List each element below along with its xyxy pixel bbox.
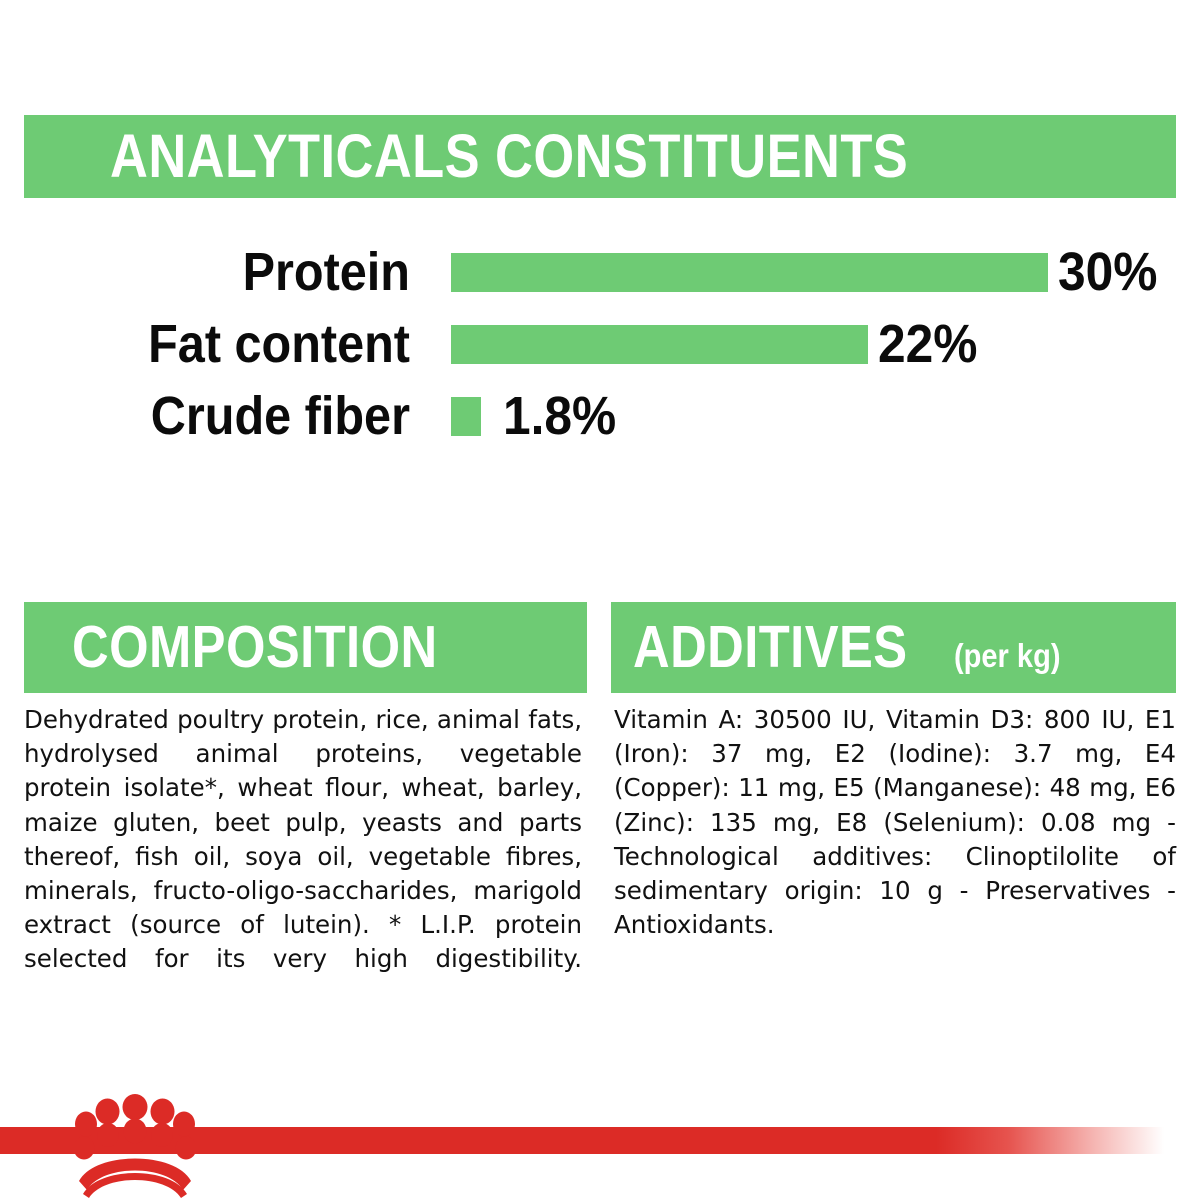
bar-zone-fat-content: 22% xyxy=(451,317,986,371)
composition-banner: COMPOSITION xyxy=(24,602,587,693)
nutrient-value-crude-fiber: 1.8% xyxy=(503,389,616,443)
nutrient-label-crude-fiber: Crude fiber xyxy=(41,389,410,443)
royal-canin-crown-logo xyxy=(75,1094,195,1198)
analyticals-constituents-banner: ANALYTICALS CONSTITUENTS xyxy=(24,115,1176,198)
bar-zone-crude-fiber: 1.8% xyxy=(451,389,626,443)
nutrient-value-fat-content: 22% xyxy=(878,317,977,371)
additives-text-block: Vitamin A: 30500 IU, Vitamin D3: 800 IU,… xyxy=(614,703,1176,977)
nutrient-bar-protein xyxy=(451,253,1048,292)
composition-title: COMPOSITION xyxy=(72,618,438,677)
bar-zone-protein: 30% xyxy=(451,245,1166,299)
chart-row-protein: Protein 30% xyxy=(0,236,1200,308)
additives-title: ADDITIVES xyxy=(633,618,908,677)
chart-row-fat-content: Fat content 22% xyxy=(0,308,1200,380)
nutrient-bar-crude-fiber xyxy=(451,397,481,436)
nutrient-label-protein: Protein xyxy=(41,245,410,299)
nutrient-label-fat-content: Fat content xyxy=(41,317,410,371)
additives-per-kg-subtitle: (per kg) xyxy=(954,639,1060,672)
composition-text-block: Dehydrated poultry protein, rice, animal… xyxy=(24,703,582,1011)
chart-row-crude-fiber: Crude fiber 1.8% xyxy=(0,380,1200,452)
nutrient-value-protein: 30% xyxy=(1058,245,1157,299)
analyticals-constituents-title: ANALYTICALS CONSTITUENTS xyxy=(110,126,908,187)
composition-body: Dehydrated poultry protein, rice, animal… xyxy=(24,703,582,1011)
nutrient-bar-chart: Protein 30% Fat content 22% Crude fiber … xyxy=(0,236,1200,452)
additives-body: Vitamin A: 30500 IU, Vitamin D3: 800 IU,… xyxy=(614,703,1176,977)
additives-banner: ADDITIVES (per kg) xyxy=(611,602,1176,693)
nutrient-bar-fat-content xyxy=(451,325,868,364)
